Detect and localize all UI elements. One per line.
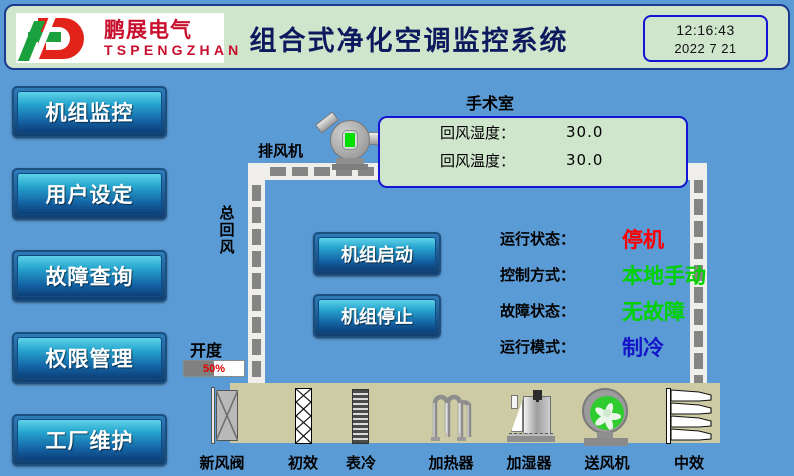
- medium-filter-icon: [666, 388, 712, 444]
- damper-opening-value: 50%: [184, 361, 244, 376]
- unit-stop-button[interactable]: 机组停止: [313, 294, 441, 338]
- sidebar-item-permission-management[interactable]: 权限管理: [12, 332, 167, 384]
- room-humidity-value: 30.0: [566, 123, 603, 141]
- room-temperature-label: 回风温度：: [440, 150, 515, 171]
- supply-fan-icon: [580, 388, 632, 446]
- status-row-run-mode: 运行模式： 制冷: [500, 336, 710, 362]
- run-state-value: 停机: [622, 224, 664, 254]
- sidebar-item-fault-query[interactable]: 故障查询: [12, 250, 167, 302]
- exhaust-fan-icon: [312, 110, 384, 170]
- unit-start-label: 机组启动: [341, 241, 413, 267]
- sidebar-item-label: 机组监控: [46, 97, 134, 127]
- sidebar-item-label: 权限管理: [46, 343, 134, 373]
- clock-display: 12:16:43 2022 7 21: [643, 15, 768, 62]
- sidebar-item-user-settings[interactable]: 用户设定: [12, 168, 167, 220]
- control-mode-label: 控制方式：: [500, 264, 575, 285]
- unit-start-button[interactable]: 机组启动: [313, 232, 441, 276]
- exhaust-fan-label: 排风机: [258, 140, 303, 161]
- equipment-label-primary-filter: 初效: [271, 452, 335, 473]
- logo-mark-icon: [20, 15, 98, 61]
- status-row-run-state: 运行状态： 停机: [500, 228, 710, 254]
- header-bar: 鹏展电气 TSPENGZHAN 组合式净化空调监控系统 12:16:43 202…: [4, 4, 790, 70]
- unit-stop-label: 机组停止: [341, 303, 413, 329]
- sidebar-item-label: 工厂维护: [46, 425, 134, 455]
- run-mode-label: 运行模式：: [500, 336, 575, 357]
- return-air-label: 总回风: [218, 205, 236, 256]
- room-humidity-label: 回风湿度：: [440, 122, 515, 143]
- sidebar-item-factory-maintenance[interactable]: 工厂维护: [12, 414, 167, 466]
- run-state-label: 运行状态：: [500, 228, 575, 249]
- sidebar-item-label: 故障查询: [46, 261, 134, 291]
- logo-chinese-name: 鹏展电气: [104, 20, 242, 41]
- heater-icon: [428, 389, 474, 444]
- sidebar-item-label: 用户设定: [46, 179, 134, 209]
- damper-opening-label: 开度: [190, 337, 222, 361]
- fault-state-label: 故障状态：: [500, 300, 575, 321]
- status-row-fault-state: 故障状态： 无故障: [500, 300, 710, 326]
- duct-supply-corner: [688, 163, 707, 180]
- equipment-label-cooling-coil: 表冷: [329, 452, 393, 473]
- primary-filter-icon: [295, 388, 312, 444]
- page-title: 组合式净化空调监控系统: [224, 19, 594, 58]
- sidebar-item-unit-monitoring[interactable]: 机组监控: [12, 86, 167, 138]
- fresh-air-damper-icon: [211, 387, 239, 444]
- room-readout-panel: 回风湿度： 30.0 回风温度： 30.0: [378, 116, 688, 188]
- equipment-label-supply-fan: 送风机: [567, 452, 647, 473]
- run-mode-value: 制冷: [622, 332, 664, 362]
- room-title: 手术室: [466, 90, 514, 114]
- equipment-label-fresh-air-damper: 新风阀: [182, 452, 262, 473]
- cooling-coil-icon: [352, 389, 369, 444]
- clock-time: 12:16:43: [645, 22, 766, 38]
- control-mode-value: 本地手动: [622, 260, 706, 290]
- company-logo: 鹏展电气 TSPENGZHAN: [16, 13, 224, 63]
- fault-state-value: 无故障: [622, 296, 685, 326]
- room-temperature-value: 30.0: [566, 151, 603, 169]
- equipment-label-heater: 加热器: [411, 452, 491, 473]
- equipment-label-humidifier: 加湿器: [489, 452, 569, 473]
- humidifier-icon: [501, 390, 557, 444]
- hmi-screen: 鹏展电气 TSPENGZHAN 组合式净化空调监控系统 12:16:43 202…: [0, 0, 794, 476]
- equipment-label-medium-filter: 中效: [657, 452, 721, 473]
- clock-date: 2022 7 21: [645, 41, 766, 56]
- duct-return-vertical: [248, 163, 265, 391]
- logo-pinyin-name: TSPENGZHAN: [104, 43, 242, 57]
- status-row-control-mode: 控制方式： 本地手动: [500, 264, 710, 290]
- damper-opening-bar[interactable]: 50%: [183, 360, 245, 377]
